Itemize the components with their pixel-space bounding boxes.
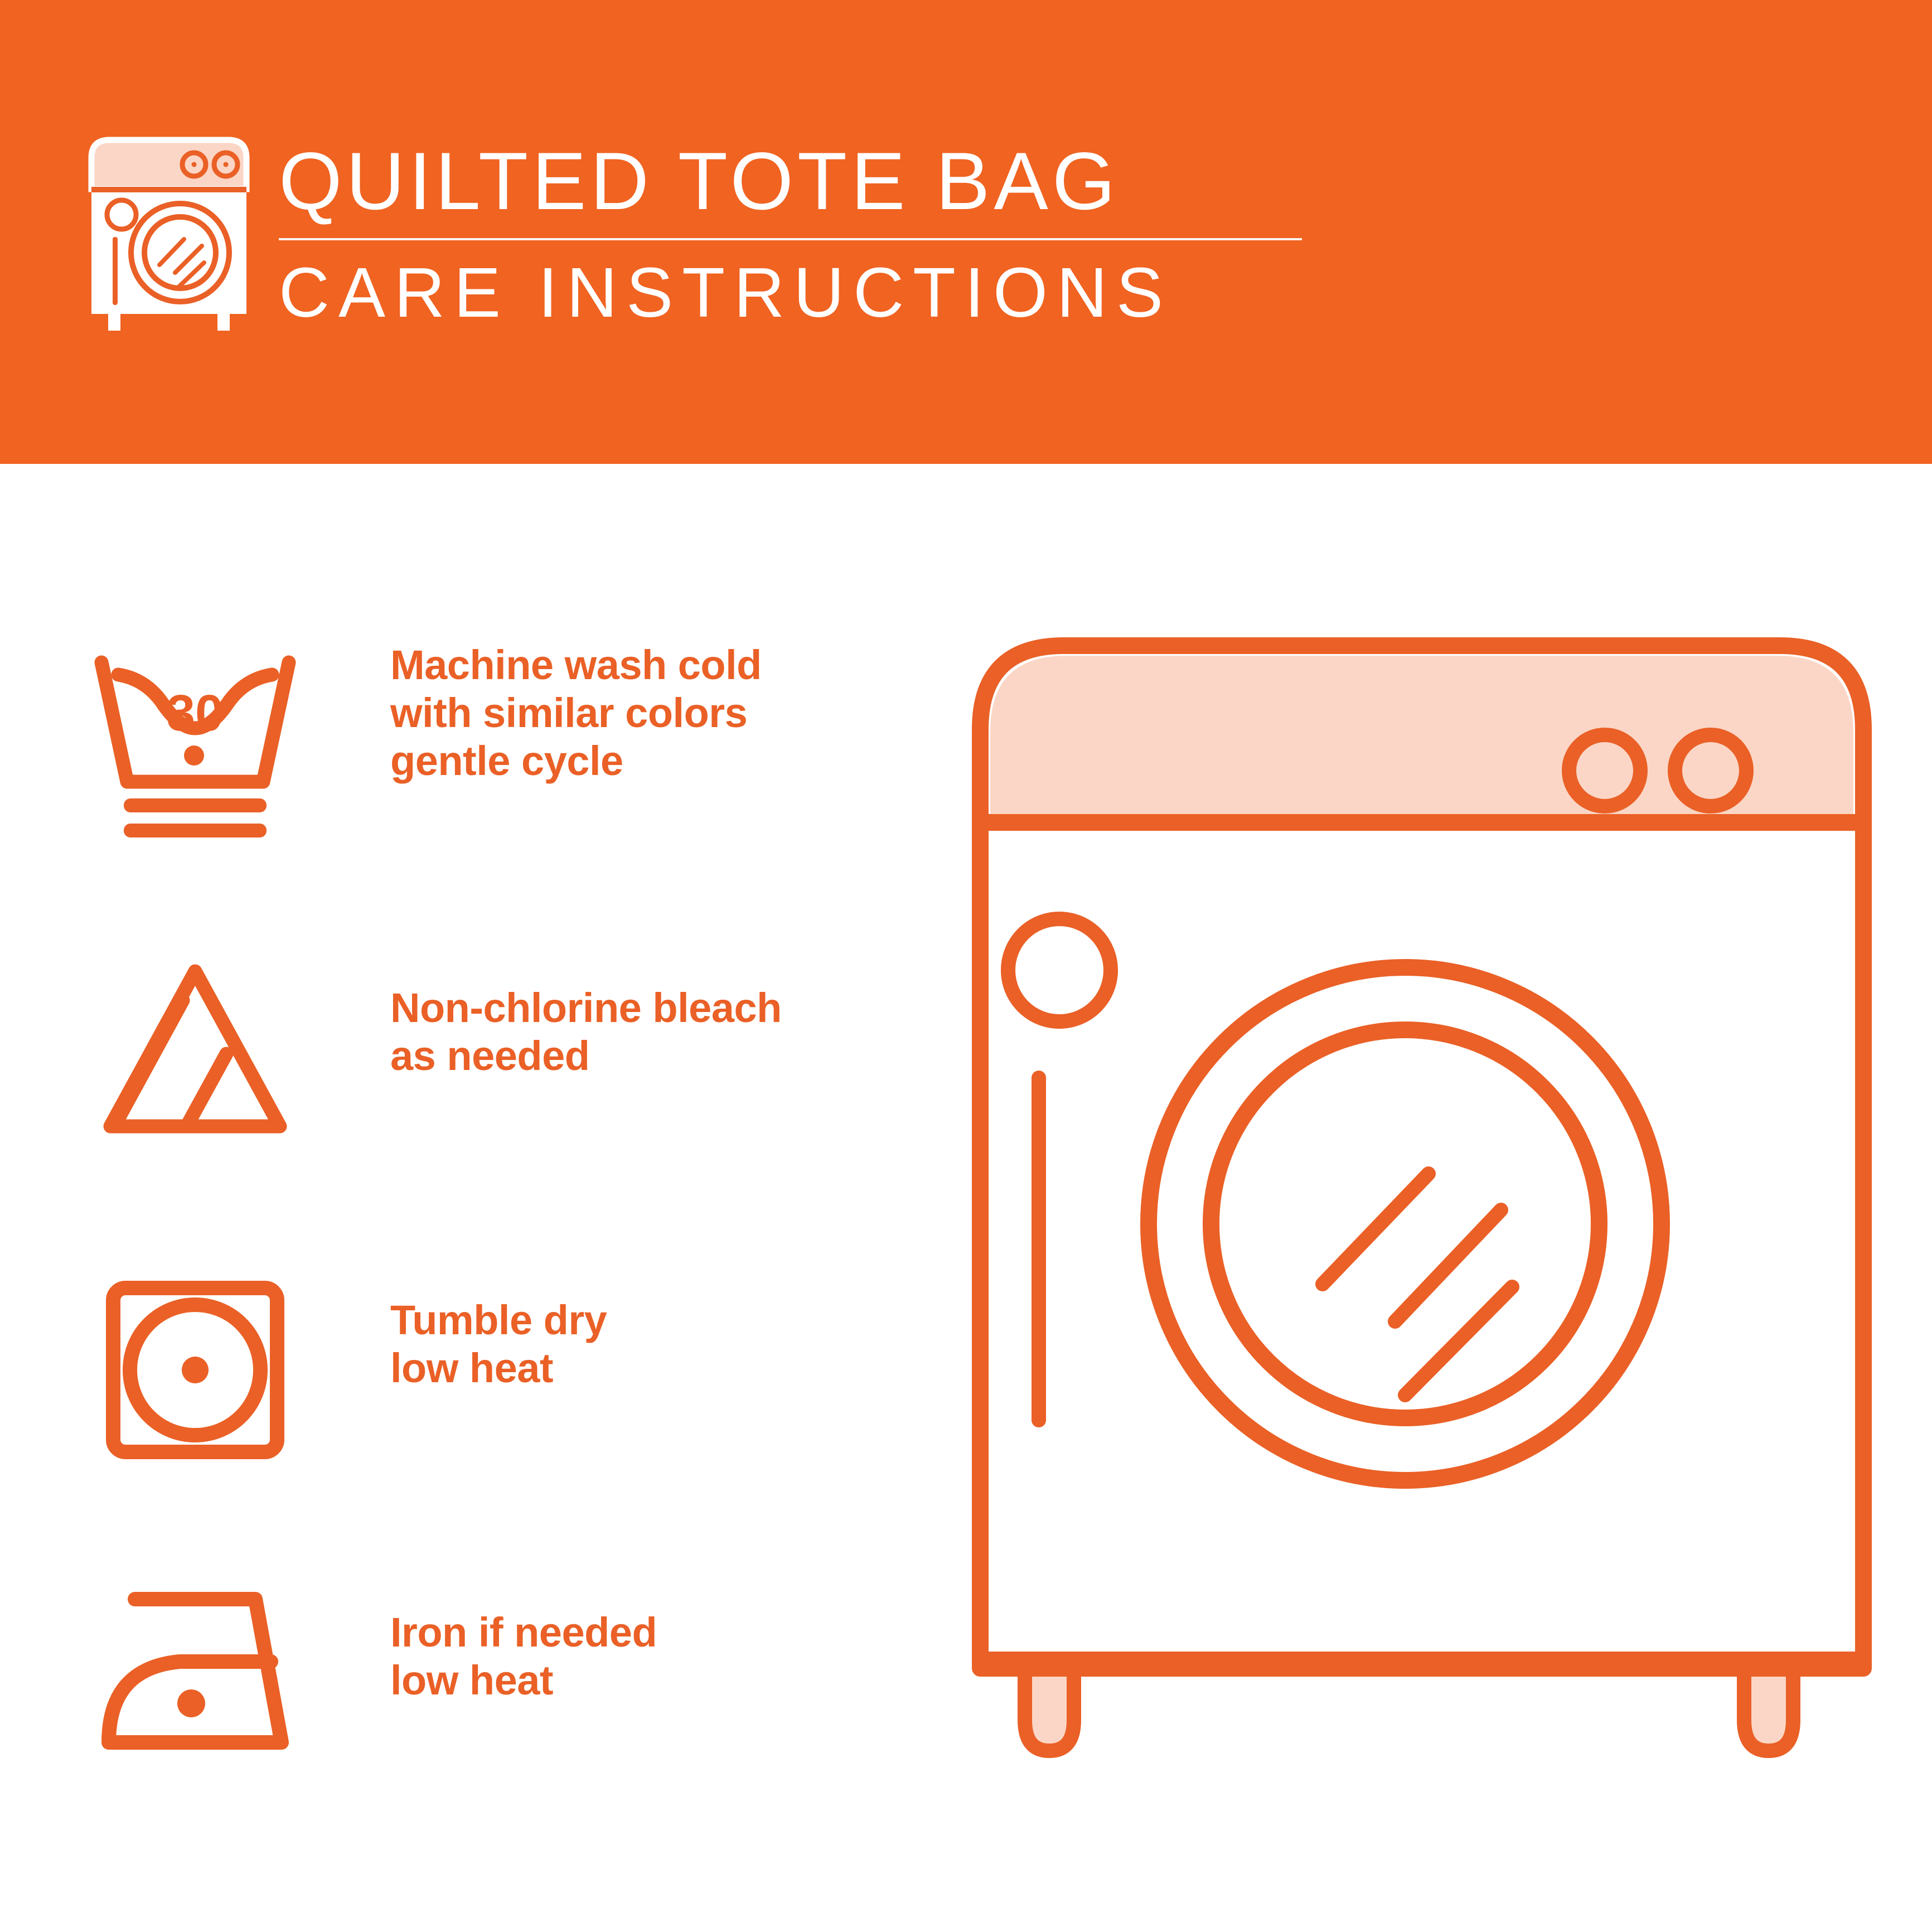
knob-right — [1675, 735, 1746, 806]
care-row-tumble-dry: Tumble dry low heat — [0, 1266, 948, 1578]
care-label-tumble-dry: Tumble dry low heat — [390, 1296, 920, 1392]
care-row-bleach: Non-chlorine bleach as needed — [0, 953, 948, 1266]
care-row-iron: Iron if needed low heat — [0, 1578, 948, 1890]
header-banner: QUILTED TOTE BAG CARE INSTRUCTIONS — [0, 0, 1932, 464]
header-title-block: QUILTED TOTE BAG CARE INSTRUCTIONS — [279, 137, 1316, 332]
tumble-dry-low-icon — [84, 1266, 307, 1472]
care-label-line: Non-chlorine bleach — [390, 984, 920, 1032]
page-title: QUILTED TOTE BAG — [279, 137, 1316, 226]
care-label-line: Iron if needed — [390, 1609, 920, 1657]
care-label-line: low heat — [390, 1657, 920, 1705]
care-label-line: gentle cycle — [390, 737, 920, 785]
machine-wash-30-gentle-icon: 30 — [84, 641, 307, 848]
care-symbol-list: 30 Machine wash cold with similar colors… — [0, 641, 948, 1890]
care-label-line: low heat — [390, 1344, 920, 1392]
page-subtitle: CARE INSTRUCTIONS — [279, 254, 1316, 332]
care-label-wash: Machine wash cold with similar colors ge… — [390, 641, 920, 785]
front-load-washing-machine-illustration — [965, 630, 1879, 1829]
non-chlorine-bleach-icon — [84, 953, 307, 1160]
care-label-line: Tumble dry — [390, 1296, 920, 1344]
door-latch — [1008, 919, 1111, 1021]
wash-temperature-label: 30 — [167, 685, 224, 742]
knob-left — [1569, 735, 1640, 806]
care-label-line: as needed — [390, 1032, 920, 1080]
cabinet-base — [980, 1652, 1863, 1668]
care-label-bleach: Non-chlorine bleach as needed — [390, 984, 920, 1080]
title-divider — [279, 238, 1302, 240]
care-label-line: with similar colors — [390, 689, 920, 737]
door-hinge — [1032, 1071, 1046, 1427]
care-row-wash: 30 Machine wash cold with similar colors… — [0, 641, 948, 953]
iron-low-heat-icon — [84, 1578, 307, 1784]
panel-divider — [980, 814, 1863, 831]
washing-machine-icon — [88, 135, 250, 332]
care-instructions-page: QUILTED TOTE BAG CARE INSTRUCTIONS 30 — [0, 0, 1932, 1932]
care-label-iron: Iron if needed low heat — [390, 1609, 920, 1705]
care-label-line: Machine wash cold — [390, 641, 920, 689]
